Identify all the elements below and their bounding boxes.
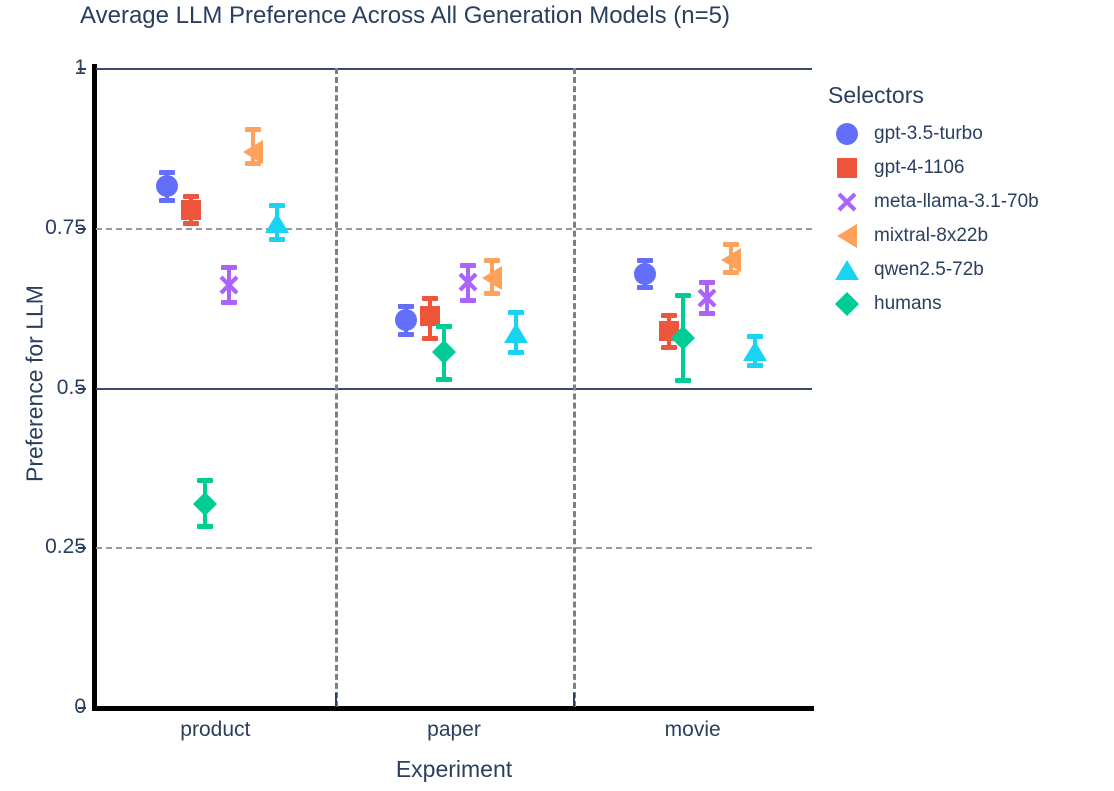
y-tick-label: 0 — [6, 695, 86, 719]
marker-triangle-left — [721, 248, 741, 272]
reference-line — [96, 388, 812, 390]
error-bar-cap — [197, 478, 213, 483]
legend-item-mixtral-8x22b[interactable]: mixtral-8x22b — [822, 219, 1102, 253]
marker-triangle-left — [482, 266, 502, 290]
error-bar-cap — [747, 334, 763, 339]
plot-area — [96, 68, 812, 707]
legend-item-meta-llama-3.1-70b[interactable]: meta-llama-3.1-70b — [822, 185, 1102, 219]
y-tick-mark — [78, 547, 86, 549]
legend-item-qwen2.5-72b[interactable]: qwen2.5-72b — [822, 253, 1102, 287]
legend-label: gpt-3.5-turbo — [874, 123, 983, 145]
error-bar-cap — [675, 293, 691, 298]
marker-circle — [395, 309, 417, 331]
marker-circle — [156, 175, 178, 197]
error-bar-cap — [699, 311, 715, 316]
legend-label: qwen2.5-72b — [874, 259, 984, 281]
error-bar-cap — [269, 203, 285, 208]
y-tick-mark — [78, 388, 86, 390]
x-tick-mark — [573, 693, 575, 707]
legend-swatch-square-icon — [830, 155, 864, 181]
marker-x — [217, 273, 241, 297]
x-tick-label-movie: movie — [665, 718, 721, 742]
error-bar-cap — [661, 313, 677, 318]
y-tick-mark — [78, 228, 86, 230]
marker-x — [456, 270, 480, 294]
chart-figure: Average LLM Preference Across All Genera… — [0, 0, 1114, 791]
legend-title: Selectors — [828, 82, 1102, 109]
horizontal-gridline — [96, 547, 812, 549]
error-bar-cap — [460, 298, 476, 303]
legend-item-gpt-4-1106[interactable]: gpt-4-1106 — [822, 151, 1102, 185]
legend-label: gpt-4-1106 — [874, 157, 965, 179]
legend-item-gpt-3.5-turbo[interactable]: gpt-3.5-turbo — [822, 117, 1102, 151]
error-bar-cap — [508, 310, 524, 315]
error-bar-cap — [221, 265, 237, 270]
error-bar-cap — [221, 300, 237, 305]
error-bar-cap — [675, 378, 691, 383]
marker-triangle-up — [265, 213, 289, 233]
horizontal-gridline — [96, 228, 812, 230]
marker-triangle-left — [243, 140, 263, 164]
error-bar-cap — [159, 170, 175, 175]
error-bar-cap — [398, 304, 414, 309]
reference-line — [96, 68, 812, 70]
y-axis-title: Preference for LLM — [22, 134, 49, 634]
error-bar-cap — [637, 285, 653, 290]
error-bar-cap — [398, 332, 414, 337]
x-tick-label-product: product — [180, 718, 250, 742]
category-separator — [573, 68, 576, 707]
marker-diamond — [193, 492, 217, 516]
error-bar-cap — [484, 291, 500, 296]
error-bar-cap — [436, 377, 452, 382]
legend-swatch-triangle-left-icon — [830, 223, 864, 249]
marker-diamond — [432, 340, 456, 364]
marker-triangle-up — [743, 341, 767, 361]
legend-items: gpt-3.5-turbogpt-4-1106meta-llama-3.1-70… — [822, 117, 1102, 321]
legend-swatch-circle-icon — [830, 121, 864, 147]
legend-label: humans — [874, 293, 942, 315]
y-tick-label: 1 — [6, 56, 86, 80]
x-tick-label-paper: paper — [427, 718, 481, 742]
legend-label: meta-llama-3.1-70b — [874, 191, 1039, 213]
error-bar-cap — [269, 237, 285, 242]
chart-title: Average LLM Preference Across All Genera… — [0, 2, 810, 30]
y-tick-mark — [78, 68, 86, 70]
legend-swatch-x-icon — [830, 189, 864, 215]
error-bar-cap — [197, 524, 213, 529]
error-bar-cap — [422, 296, 438, 301]
error-bar-cap — [436, 324, 452, 329]
x-axis-title: Experiment — [96, 756, 812, 783]
error-bar-cap — [183, 221, 199, 226]
legend-swatch-diamond-icon — [830, 291, 864, 317]
marker-square — [181, 200, 201, 220]
error-bar-cap — [484, 258, 500, 263]
legend-item-humans[interactable]: humans — [822, 287, 1102, 321]
marker-x — [695, 286, 719, 310]
error-bar-cap — [723, 242, 739, 247]
legend-label: mixtral-8x22b — [874, 225, 988, 247]
legend: Selectors gpt-3.5-turbogpt-4-1106meta-ll… — [822, 82, 1102, 321]
category-separator — [335, 68, 338, 707]
error-bar-cap — [159, 198, 175, 203]
error-bar-cap — [460, 263, 476, 268]
marker-circle — [634, 263, 656, 285]
error-bar-cap — [747, 363, 763, 368]
marker-triangle-up — [504, 323, 528, 343]
y-tick-mark — [78, 707, 86, 709]
error-bar-cap — [183, 194, 199, 199]
legend-swatch-triangle-up-icon — [830, 257, 864, 283]
x-tick-mark — [335, 693, 337, 707]
error-bar-cap — [422, 336, 438, 341]
error-bar-cap — [661, 345, 677, 350]
error-bar-cap — [508, 350, 524, 355]
error-bar-cap — [699, 280, 715, 285]
error-bar-cap — [245, 127, 261, 132]
